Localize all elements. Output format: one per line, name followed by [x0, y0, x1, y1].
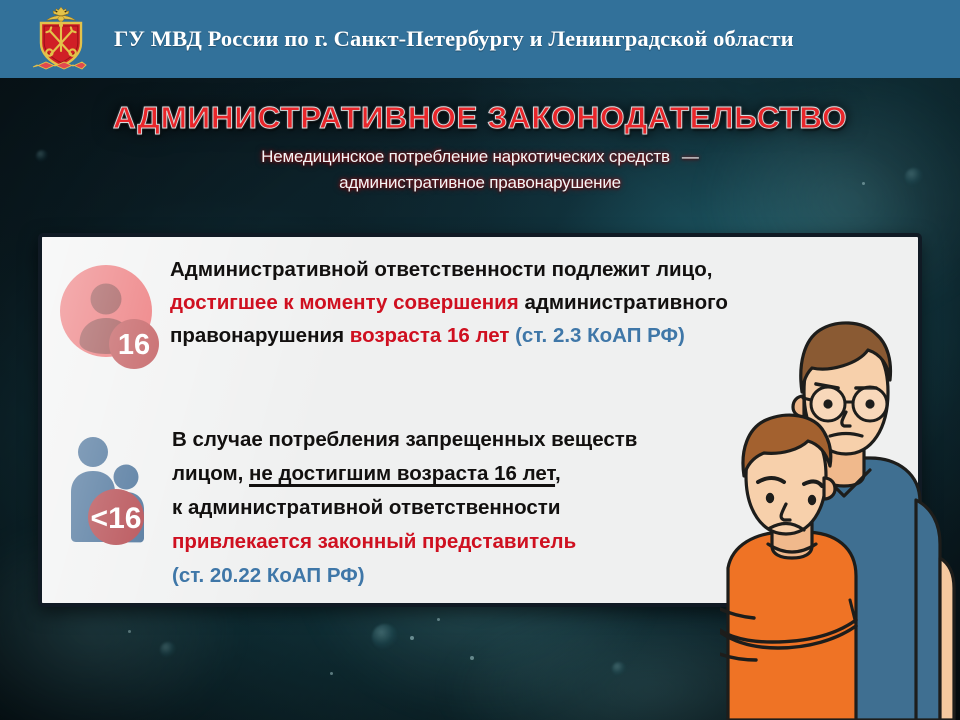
article-reference-2: (ст. 20.22 КоАП РФ) — [172, 564, 365, 587]
content-card: 16 Административной ответственности подл… — [38, 233, 922, 607]
text-span-red: привлекается законный представитель — [172, 530, 576, 553]
header-bar: ГУ МВД России по г. Санкт-Петербургу и Л… — [0, 0, 960, 78]
block-age-16-line-3: правонарушения возраста 16 лет (ст. 2.3 … — [170, 319, 728, 352]
block-under-16-line-5: (ст. 20.22 КоАП РФ) — [172, 559, 637, 593]
block-age-16: 16 Административной ответственности подл… — [58, 253, 728, 374]
text-span: , — [555, 462, 561, 485]
mvd-emblem-icon — [24, 2, 98, 76]
parent-child-under16-icon: <16 — [60, 433, 164, 549]
block-under-16-line-1: В случае потребления запрещенных веществ — [172, 423, 637, 457]
text-span-red: возраста 16 лет — [350, 324, 515, 347]
subtitle-dash: — — [670, 147, 699, 166]
text-span: лицом, — [172, 462, 249, 485]
block-under-16-line-3: к административной ответственности — [172, 491, 637, 525]
block-under-16-line-2: лицом, не достигшим возраста 16 лет, — [172, 457, 637, 491]
badge-16-label: 16 — [118, 329, 150, 361]
subtitle-text-1: Немедицинское потребление наркотических … — [261, 147, 670, 166]
subtitle-line-2: административное правонарушение — [0, 173, 960, 193]
block-under-16-icon-col: <16 — [60, 423, 172, 593]
text-span: Административной ответственности подлежи… — [170, 258, 712, 281]
text-span-underlined: не достигшим возраста 16 лет — [249, 462, 555, 485]
poster-root: ГУ МВД России по г. Санкт-Петербургу и Л… — [0, 0, 960, 720]
text-span: к административной ответственности — [172, 496, 560, 519]
block-under-16-text: В случае потребления запрещенных веществ… — [172, 423, 637, 593]
block-age-16-line-1: Административной ответственности подлежи… — [170, 253, 728, 286]
text-span: В случае потребления запрещенных веществ — [172, 428, 637, 451]
block-age-16-text: Административной ответственности подлежи… — [170, 253, 728, 374]
block-under-16: <16 В случае потребления запрещенных вещ… — [60, 423, 637, 593]
subtitle-line-1: Немедицинское потребление наркотических … — [0, 147, 960, 167]
block-under-16-line-4: привлекается законный представитель — [172, 525, 637, 559]
header-title: ГУ МВД России по г. Санкт-Петербургу и Л… — [114, 26, 794, 52]
title-block: АДМИНИСТРАТИВНОЕ ЗАКОНОДАТЕЛЬСТВО Немеди… — [0, 100, 960, 193]
page-title: АДМИНИСТРАТИВНОЕ ЗАКОНОДАТЕЛЬСТВО — [0, 100, 960, 136]
block-age-16-icon-col: 16 — [58, 253, 170, 374]
article-reference-1: (ст. 2.3 КоАП РФ) — [515, 324, 685, 347]
text-span: правонарушения — [170, 324, 350, 347]
person-16-icon: 16 — [58, 265, 162, 369]
block-age-16-line-2: достигшее к моменту совершения администр… — [170, 286, 728, 319]
text-span: административного — [524, 291, 727, 314]
badge-under16-label: <16 — [91, 502, 142, 535]
text-span-red: достигшее к моменту совершения — [170, 291, 524, 314]
